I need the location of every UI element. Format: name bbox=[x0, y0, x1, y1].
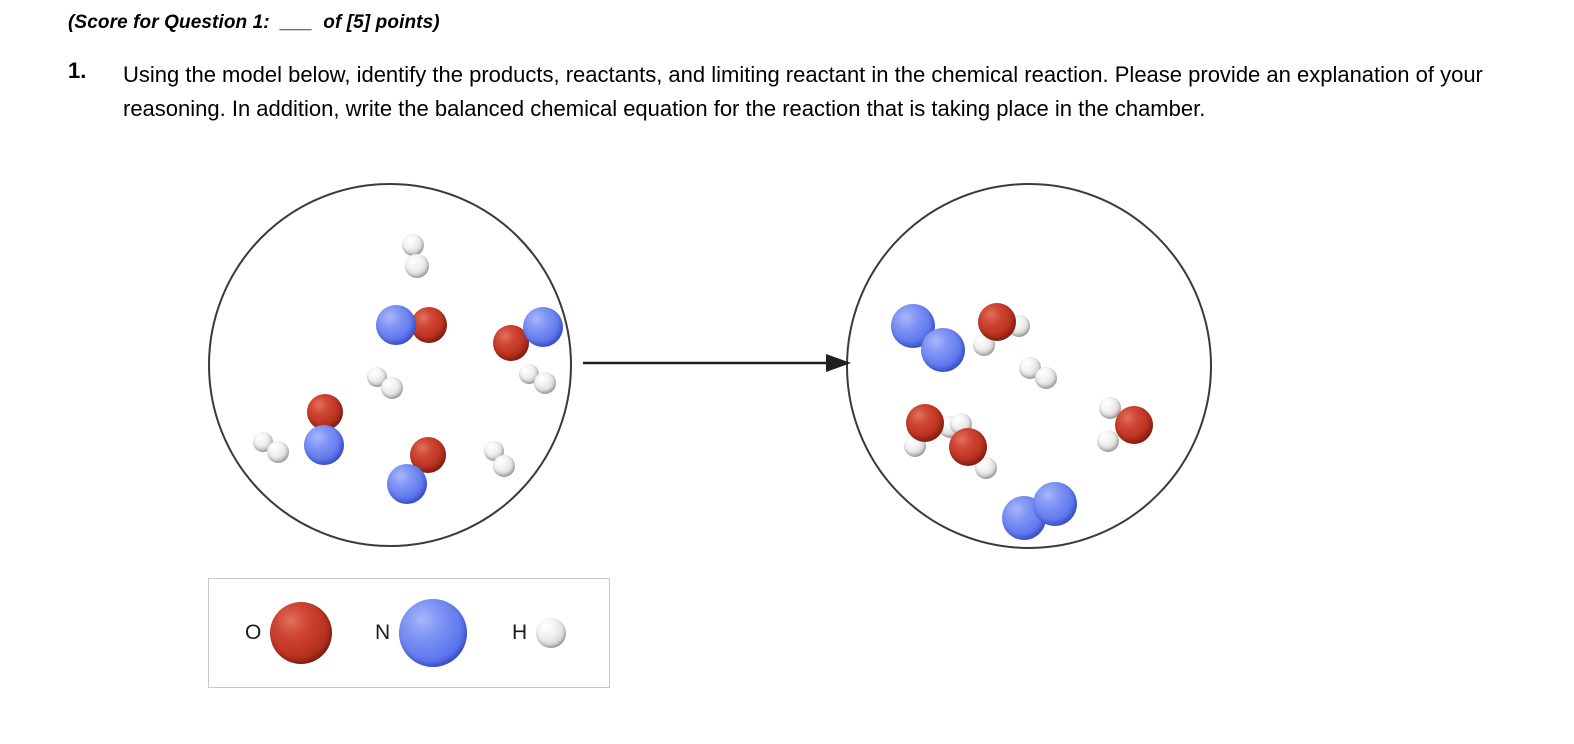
nitrogen-sphere-icon bbox=[399, 599, 467, 667]
legend-entry-hydrogen: H bbox=[512, 579, 566, 687]
legend-box: O N H bbox=[208, 578, 610, 688]
oxygen-atom bbox=[906, 404, 944, 442]
legend-entry-oxygen: O bbox=[245, 579, 332, 687]
hydrogen-atom bbox=[534, 372, 556, 394]
question-text: Using the model below, identify the prod… bbox=[123, 58, 1508, 126]
nitrogen-atom bbox=[1033, 482, 1077, 526]
oxygen-atom bbox=[949, 428, 987, 466]
hydrogen-atom bbox=[267, 441, 289, 463]
nitrogen-atom bbox=[387, 464, 427, 504]
oxygen-sphere-icon bbox=[270, 602, 332, 664]
score-header: (Score for Question 1: ___ of [5] points… bbox=[68, 12, 440, 34]
legend-entry-nitrogen: N bbox=[375, 579, 467, 687]
reaction-arrow-icon bbox=[583, 348, 851, 378]
oxygen-atom bbox=[1115, 406, 1153, 444]
hydrogen-atom bbox=[1035, 367, 1057, 389]
nitrogen-atom bbox=[921, 328, 965, 372]
nitrogen-atom bbox=[304, 425, 344, 465]
nitrogen-atom bbox=[523, 307, 563, 347]
oxygen-atom bbox=[978, 303, 1016, 341]
hydrogen-sphere-icon bbox=[536, 618, 566, 648]
hydrogen-atom bbox=[493, 455, 515, 477]
nitrogen-atom bbox=[376, 305, 416, 345]
legend-label-nitrogen: N bbox=[375, 621, 390, 645]
oxygen-atom bbox=[411, 307, 447, 343]
legend-label-hydrogen: H bbox=[512, 621, 527, 645]
legend-label-oxygen: O bbox=[245, 621, 261, 645]
hydrogen-atom bbox=[405, 254, 429, 278]
question-number: 1. bbox=[68, 58, 86, 84]
hydrogen-atom bbox=[381, 377, 403, 399]
hydrogen-atom bbox=[1097, 430, 1119, 452]
hydrogen-atom bbox=[402, 234, 424, 256]
